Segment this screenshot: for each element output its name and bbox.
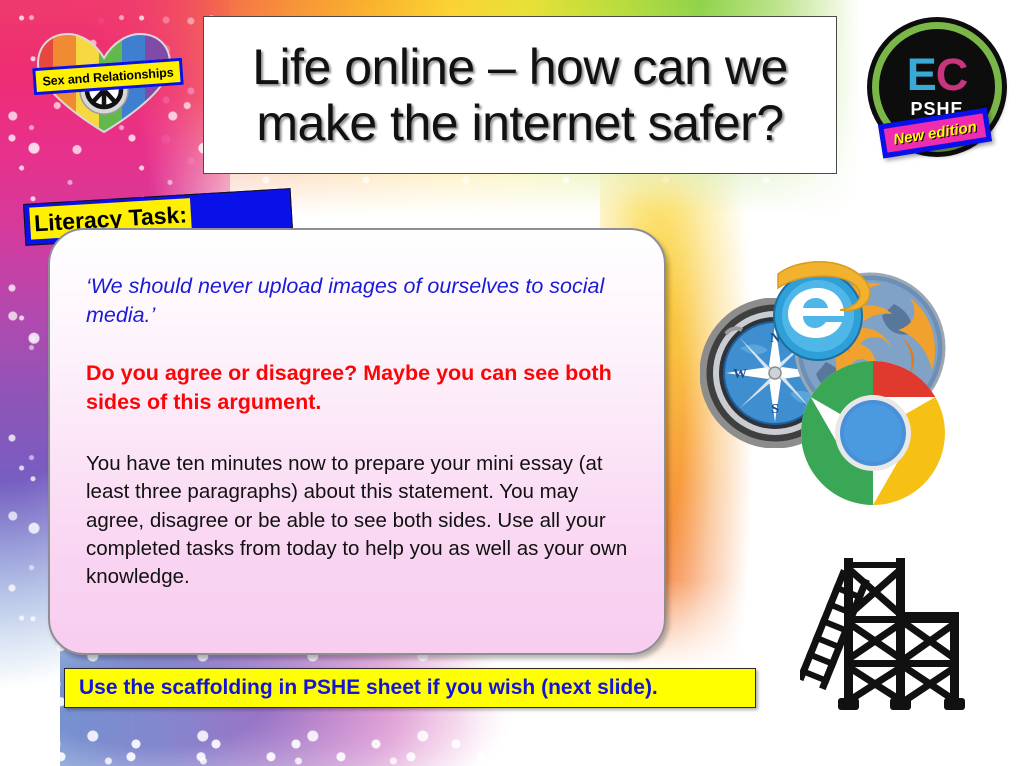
page-title: Life online – how can we make the intern… <box>242 39 798 151</box>
task-question: Do you agree or disagree? Maybe you can … <box>86 359 628 416</box>
sex-and-relationships-banner-text: Sex and Relationships <box>42 65 174 88</box>
title-line-1: Life online – how can we <box>252 39 788 95</box>
chrome-icon <box>798 358 948 508</box>
ec-logo-letter-c: C <box>936 49 968 100</box>
ec-logo-letters: EC <box>907 54 968 97</box>
slide-canvas: Sex and Relationships Life online – how … <box>0 0 1021 766</box>
footer-banner: Use the scaffolding in PSHE sheet if you… <box>64 668 756 708</box>
internet-explorer-icon <box>760 258 880 368</box>
browser-icons-cluster: N S E W <box>700 258 950 488</box>
sex-and-relationships-logo: Sex and Relationships <box>30 28 178 136</box>
svg-text:S: S <box>771 402 779 417</box>
ec-pshe-logo: EC PSHE New edition <box>866 20 1006 165</box>
footer-banner-text: Use the scaffolding in PSHE sheet if you… <box>65 676 658 700</box>
title-box: Life online – how can we make the intern… <box>203 16 837 174</box>
task-instructions: You have ten minutes now to prepare your… <box>86 450 628 591</box>
title-line-2: make the internet safer? <box>256 95 783 151</box>
task-card: ‘We should never upload images of oursel… <box>48 228 666 655</box>
ec-logo-letter-e: E <box>907 49 936 100</box>
svg-text:W: W <box>733 367 747 382</box>
task-quote: ‘We should never upload images of oursel… <box>86 272 628 329</box>
new-edition-badge-text: New edition <box>892 118 978 148</box>
scaffolding-tower-icon <box>800 550 990 720</box>
